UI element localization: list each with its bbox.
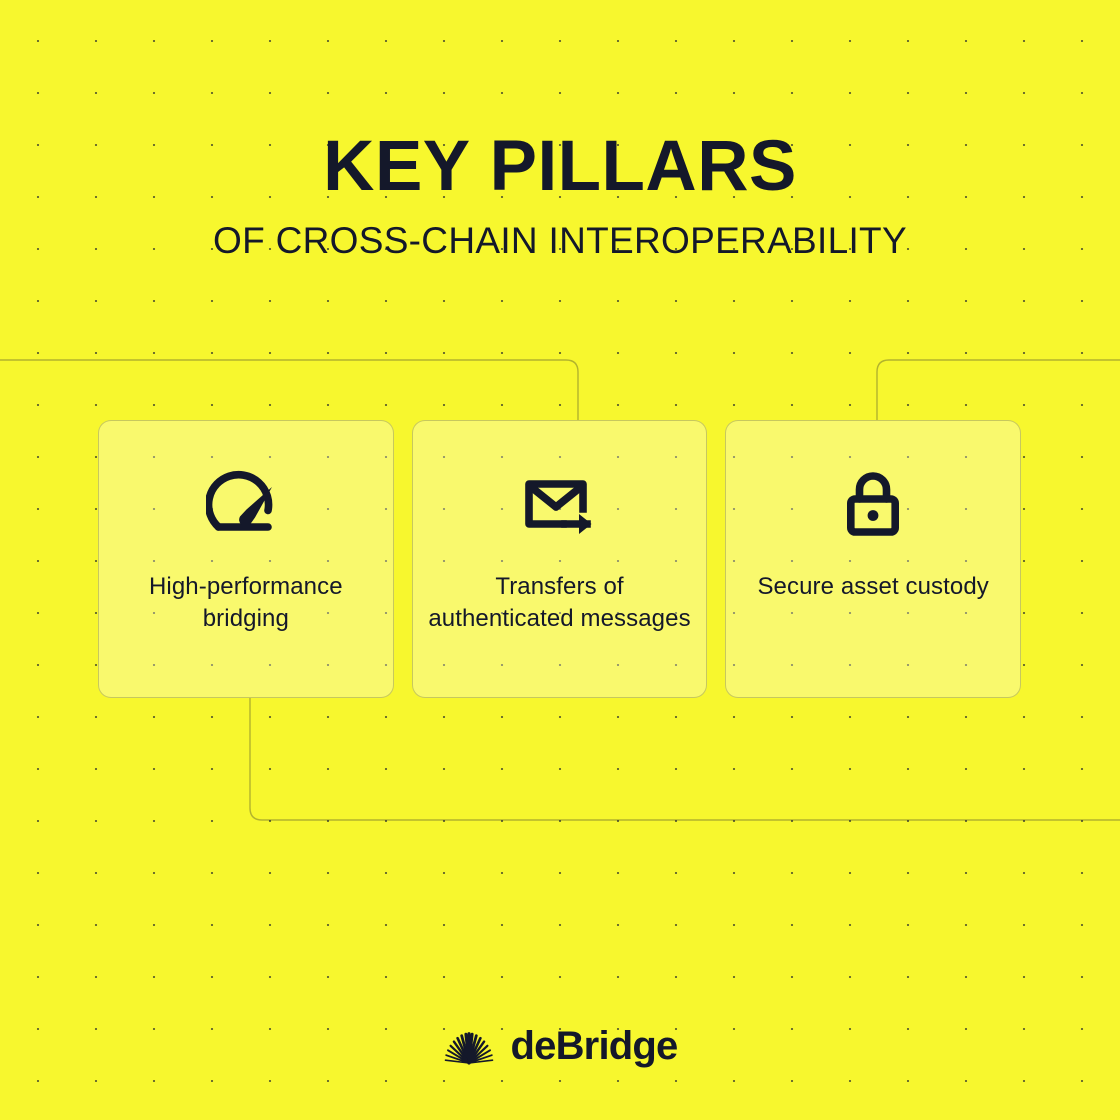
connector-bottom: [250, 698, 1120, 820]
debridge-arch-icon: [443, 1027, 495, 1065]
padlock-icon: [831, 465, 915, 549]
envelope-arrow-icon: [518, 465, 602, 549]
pillar-card-label: Transfers of authenticated messages: [413, 571, 707, 635]
pillar-card-label: High-performance bridging: [99, 571, 393, 635]
poster-canvas: KEY PILLARS OF CROSS-CHAIN INTEROPERABIL…: [0, 0, 1120, 1120]
speedometer-icon: [204, 465, 288, 549]
pillar-card-transfers-of-authenticated-messages[interactable]: Transfers of authenticated messages: [412, 420, 708, 698]
brand-footer[interactable]: deBridge: [0, 1024, 1120, 1068]
pillar-card-label: Secure asset custody: [726, 571, 1020, 603]
page-title: KEY PILLARS: [0, 128, 1120, 206]
pillar-card-secure-asset-custody[interactable]: Secure asset custody: [725, 420, 1021, 698]
pillar-card-high-performance-bridging[interactable]: High-performance bridging: [98, 420, 394, 698]
brand-wordmark: deBridge: [511, 1024, 678, 1068]
connector-top-left: [0, 360, 578, 420]
pillar-card-list: High-performance bridging Transfers of a…: [98, 420, 1021, 698]
connector-top-right: [877, 360, 1120, 420]
page-subtitle: OF CROSS-CHAIN INTEROPERABILITY: [0, 220, 1120, 262]
poster-header: KEY PILLARS OF CROSS-CHAIN INTEROPERABIL…: [0, 128, 1120, 262]
